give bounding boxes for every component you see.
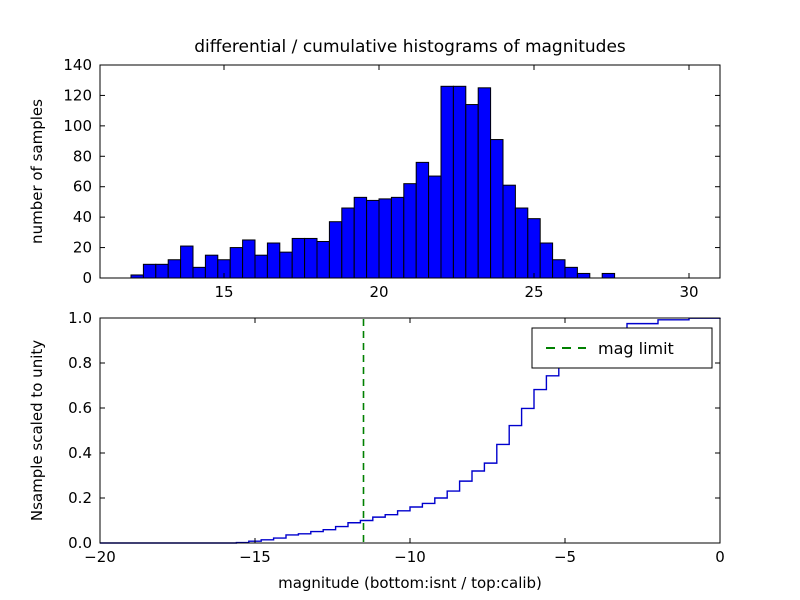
x-tick-label: −10 bbox=[394, 548, 426, 566]
histogram-bar bbox=[528, 219, 540, 278]
histogram-bar bbox=[305, 238, 317, 278]
histogram-bar bbox=[367, 200, 379, 278]
histogram-bar bbox=[255, 255, 267, 278]
histogram-bar bbox=[181, 246, 193, 278]
legend-label: mag limit bbox=[598, 339, 674, 358]
histogram-bar bbox=[404, 184, 416, 278]
histogram-bar bbox=[391, 197, 403, 278]
x-tick-label: −15 bbox=[239, 548, 271, 566]
x-axis-label: magnitude (bottom:isnt / top:calib) bbox=[278, 574, 542, 592]
x-tick-label: 20 bbox=[369, 283, 388, 301]
histogram-bar bbox=[577, 273, 589, 278]
x-tick-label: 25 bbox=[524, 283, 543, 301]
y-tick-label: 1.0 bbox=[68, 309, 92, 327]
y-tick-label: 0 bbox=[82, 269, 92, 287]
matplotlib-figure: differential / cumulative histograms of … bbox=[0, 0, 800, 600]
y-tick-label: 60 bbox=[73, 178, 92, 196]
y-tick-label: 0.2 bbox=[68, 489, 92, 507]
figure-canvas: differential / cumulative histograms of … bbox=[0, 0, 800, 600]
histogram-bar bbox=[503, 185, 515, 278]
x-tick-label: −5 bbox=[554, 548, 576, 566]
y-tick-label: 80 bbox=[73, 147, 92, 165]
x-tick-label: 0 bbox=[715, 548, 725, 566]
page-title: differential / cumulative histograms of … bbox=[194, 37, 626, 57]
histogram-bar bbox=[205, 255, 217, 278]
histogram-bar bbox=[243, 240, 255, 278]
histogram-bar bbox=[466, 105, 478, 278]
histogram-bar bbox=[156, 264, 168, 278]
histogram-bar bbox=[280, 252, 292, 278]
y-tick-label: 40 bbox=[73, 208, 92, 226]
y-tick-label: 0.6 bbox=[68, 399, 92, 417]
histogram-bar bbox=[441, 86, 453, 278]
y-tick-label: 140 bbox=[63, 56, 92, 74]
histogram-bar bbox=[416, 162, 428, 278]
histogram-bar bbox=[354, 197, 366, 278]
histogram-bar bbox=[292, 238, 304, 278]
y-axis-label: number of samples bbox=[28, 99, 46, 244]
histogram-bar bbox=[329, 222, 341, 278]
x-tick-label: 15 bbox=[214, 283, 233, 301]
histogram-bar bbox=[478, 88, 490, 278]
histogram-bar bbox=[429, 176, 441, 278]
x-tick-label: 30 bbox=[679, 283, 698, 301]
histogram-bar bbox=[515, 208, 527, 278]
histogram-bar bbox=[491, 140, 503, 278]
histogram-bar bbox=[168, 260, 180, 278]
histogram-bar bbox=[143, 264, 155, 278]
histogram-bar bbox=[565, 267, 577, 278]
x-tick-label: −20 bbox=[84, 548, 116, 566]
histogram-bar bbox=[453, 86, 465, 278]
y-tick-label: 20 bbox=[73, 239, 92, 257]
histogram-bar bbox=[342, 208, 354, 278]
histogram-bar bbox=[267, 243, 279, 278]
histogram-bar bbox=[317, 241, 329, 278]
y-tick-label: 0.4 bbox=[68, 444, 92, 462]
y-tick-label: 0.8 bbox=[68, 354, 92, 372]
histogram-bar bbox=[230, 248, 242, 278]
y-tick-label: 100 bbox=[63, 117, 92, 135]
histogram-bar bbox=[553, 260, 565, 278]
y-axis-label: Nsample scaled to unity bbox=[28, 340, 46, 521]
histogram-bar bbox=[193, 267, 205, 278]
y-tick-label: 120 bbox=[63, 86, 92, 104]
histogram-bar bbox=[540, 243, 552, 278]
histogram-bar bbox=[602, 273, 614, 278]
histogram-bar bbox=[379, 199, 391, 278]
